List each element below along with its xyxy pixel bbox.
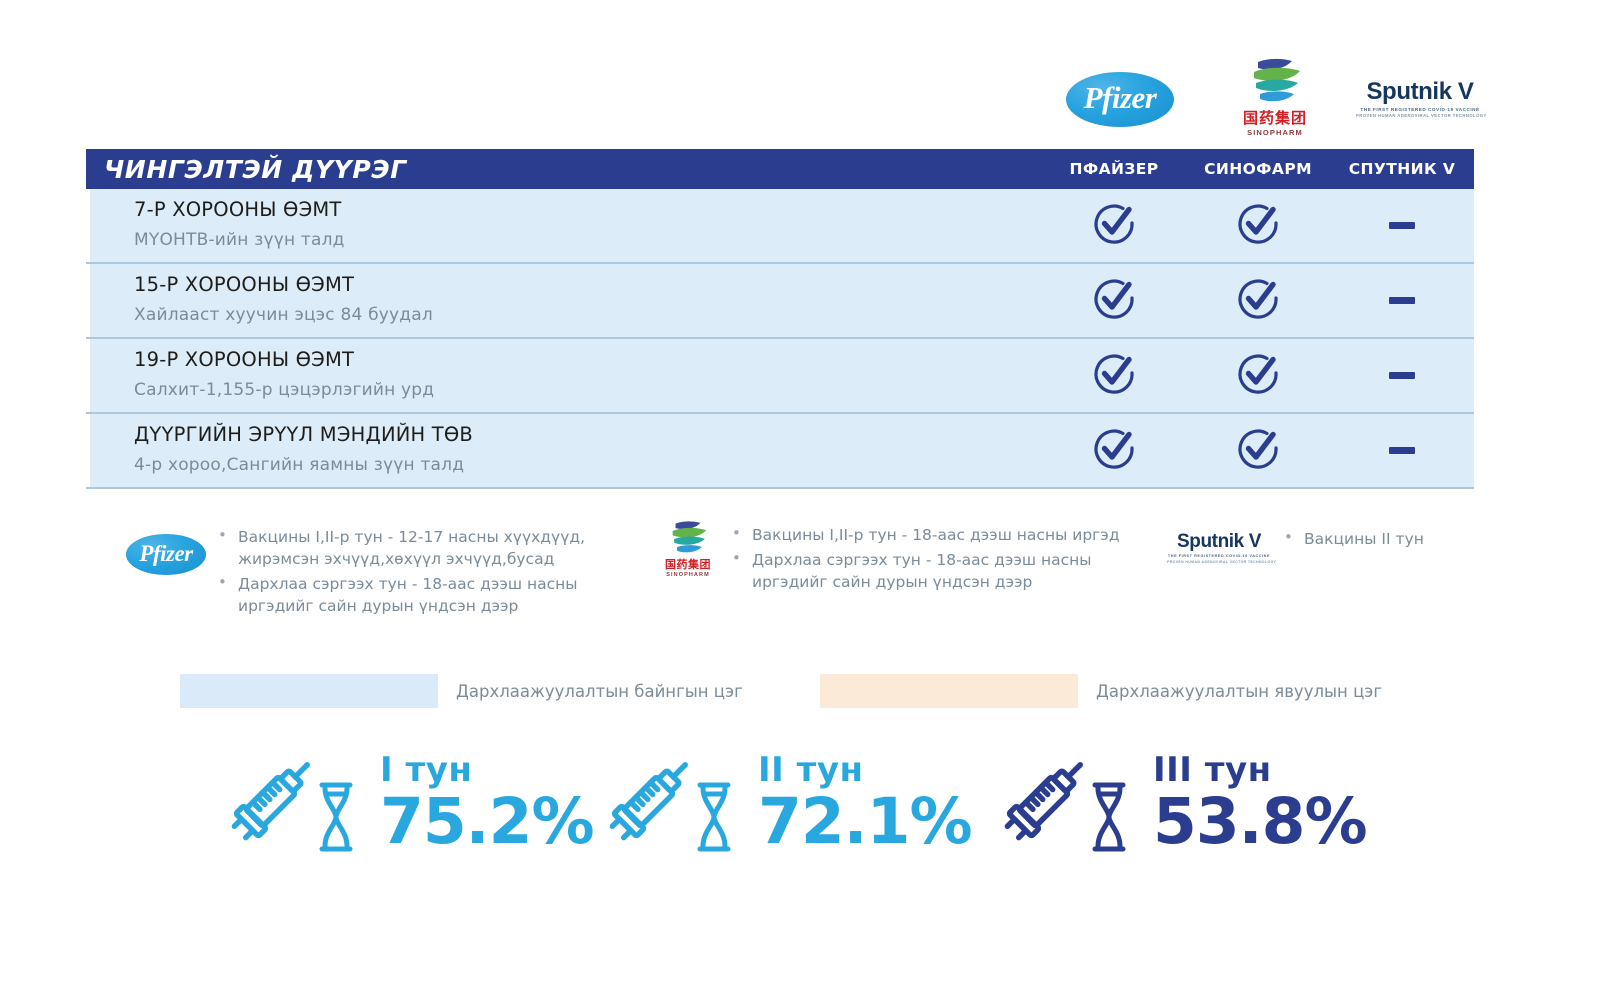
check-circle-icon [1090,199,1138,252]
check-circle-icon [1090,349,1138,402]
list-item: Дархлаа сэргээх тун - 18-аас дээш насны … [726,549,1120,593]
sputnik-tagline-primary: THE FIRST REGISTERED COVID-19 VACCINE [1167,554,1271,558]
sputnik-logo-icon: Sputnik V THE FIRST REGISTERED COVID-19 … [1356,80,1484,119]
hourglass-icon [1087,780,1131,859]
column-header-pfizer: ПФАЙЗЕР [1042,160,1186,178]
table-row[interactable]: ДҮҮРГИЙН ЭРҮҮЛ МЭНДИЙН ТӨВ 4-р хороо,Сан… [86,414,1474,489]
sinopharm-wave-icon [1244,57,1306,109]
sinopharm-english-name: SINOPHARM [656,572,720,578]
sputnik-logo-icon: Sputnik V THE FIRST REGISTERED COVID-19 … [1167,532,1271,564]
site-name: 19-Р ХОРООНЫ ӨЭМТ [134,348,1042,371]
stat-text-group: II тун 72.1% [758,753,972,855]
check-circle-icon [1090,424,1138,477]
note-line: Вакцины II тун [1304,528,1424,550]
table-row[interactable]: 7-Р ХОРООНЫ ӨЭМТ МҮОНТВ-ийн зүүн талд [86,189,1474,264]
sinopharm-english-name: SINOPHARM [1232,128,1318,137]
infographic-page: Pfizer 国药集团 SINOPHARM Sputnik V [0,0,1600,984]
note-line: иргэдийг сайн дурын үндсэн дээр [238,595,585,617]
note-line: Вакцины I,II-р тун - 18-аас дээш насны и… [752,524,1120,546]
row-left-margin [86,414,90,487]
site-address: 4-р хороо,Сангийн яамны зүүн талд [134,455,1042,475]
dash-icon [1389,447,1415,454]
row-left-margin [86,189,90,262]
pfizer-note-block: Pfizer Вакцины I,II-р тун - 12-17 насны … [120,522,590,620]
stat-dose-2: II тун 72.1% [600,740,972,868]
dose-label: III тун [1153,753,1367,787]
note-line: иргэдийг сайн дурын үндсэн дээр [752,571,1120,593]
sputnik-note-block: Sputnik V THE FIRST REGISTERED COVID-19 … [1160,524,1480,564]
note-line: жирэмсэн эхчүүд,хөхүүл эхчүүд,бусад [238,548,585,570]
sputnik-note-list: Вакцины II тун [1278,524,1424,553]
pfizer-logo-icon: Pfizer [1066,72,1174,127]
sputnik-tagline-secondary: PROVEN HUMAN ADENOVIRAL VECTOR TECHNOLOG… [1167,560,1271,564]
list-item: Вакцины II тун [1278,528,1424,550]
sinopharm-logo-icon: 国药集团 SINOPHARM [1232,57,1318,141]
vaccine-eligibility-legend: Pfizer Вакцины I,II-р тун - 12-17 насны … [120,512,1480,622]
legend-label: Дархлаажуулалтын явуулын цэг [1096,682,1382,701]
sinopharm-legend-logo-slot: 国药集团 SINOPHARM [650,520,726,582]
list-item: Дархлаа сэргээх тун - 18-аас дээш насны … [212,573,585,617]
table-body: 7-Р ХОРООНЫ ӨЭМТ МҮОНТВ-ийн зүүн талд [86,189,1474,489]
check-circle-icon [1234,424,1282,477]
cell-pfizer [1042,264,1186,337]
row-site-info: ДҮҮРГИЙН ЭРҮҮЛ МЭНДИЙН ТӨВ 4-р хороо,Сан… [86,414,1042,487]
legend-label: Дархлаажуулалтын байнгын цэг [456,682,743,701]
check-circle-icon [1234,274,1282,327]
column-header-sputnik: СПУТНИК V [1330,160,1474,178]
syringe-icon [600,746,704,855]
list-item: Вакцины I,II-р тун - 12-17 насны хүүхдүү… [212,526,585,570]
cell-sputnik [1330,264,1474,337]
dash-icon [1389,222,1415,229]
dash-icon [1389,372,1415,379]
cell-sputnik [1330,414,1474,487]
site-type-legend: Дархлаажуулалтын байнгын цэг Дархлаажуул… [180,674,1380,718]
cell-sinopharm [1186,339,1330,412]
pfizer-wordmark: Pfizer [1066,71,1174,126]
table-header-bar: ЧИНГЭЛТЭЙ ДҮҮРЭГ ПФАЙЗЕР СИНОФАРМ СПУТНИ… [86,149,1474,189]
legend-permanent-site: Дархлаажуулалтын байнгын цэг [180,674,743,708]
site-name: 7-Р ХОРООНЫ ӨЭМТ [134,198,1042,221]
note-line: Дархлаа сэргээх тун - 18-аас дээш насны [752,549,1120,571]
legend-swatch-peach [820,674,1078,708]
check-circle-icon [1234,349,1282,402]
sputnik-tagline-primary: THE FIRST REGISTERED COVID-19 VACCINE [1356,107,1484,112]
dose-label: I тун [380,753,594,787]
cell-pfizer [1042,414,1186,487]
table-row[interactable]: 15-Р ХОРООНЫ ӨЭМТ Хайлааст хуучин эцэс 8… [86,264,1474,339]
dose-percentage: 75.2% [380,789,594,855]
sputnik-legend-logo-slot: Sputnik V THE FIRST REGISTERED COVID-19 … [1160,524,1278,564]
cell-sinopharm [1186,414,1330,487]
sputnik-logo-slot: Sputnik V THE FIRST REGISTERED COVID-19 … [1350,52,1490,146]
pfizer-legend-logo-slot: Pfizer [120,522,212,575]
syringe-icon [995,746,1099,855]
table-row[interactable]: 19-Р ХОРООНЫ ӨЭМТ Салхит-1,155-р цэцэрлэ… [86,339,1474,414]
legend-mobile-site: Дархлаажуулалтын явуулын цэг [820,674,1382,708]
site-name: 15-Р ХОРООНЫ ӨЭМТ [134,273,1042,296]
pfizer-note-list: Вакцины I,II-р тун - 12-17 насны хүүхдүү… [212,522,585,620]
sinopharm-chinese-name: 国药集团 [656,559,720,571]
hourglass-icon [692,780,736,859]
pfizer-wordmark: Pfizer [126,533,206,574]
dose-percentage: 72.1% [758,789,972,855]
site-name: ДҮҮРГИЙН ЭРҮҮЛ МЭНДИЙН ТӨВ [134,423,1042,446]
sinopharm-note-block: 国药集团 SINOPHARM Вакцины I,II-р тун - 18-а… [650,520,1150,596]
note-line: Вакцины I,II-р тун - 12-17 насны хүүхдүү… [238,526,585,548]
cell-sinopharm [1186,264,1330,337]
cell-pfizer [1042,189,1186,262]
dose-coverage-stats: I тун 75.2% [0,740,1600,880]
sinopharm-wave-icon [665,520,711,558]
dose-label: II тун [758,753,972,787]
row-site-info: 7-Р ХОРООНЫ ӨЭМТ МҮОНТВ-ийн зүүн талд [86,189,1042,262]
stat-icon-group [222,740,372,868]
district-title: ЧИНГЭЛТЭЙ ДҮҮРЭГ [86,155,1042,184]
sinopharm-note-list: Вакцины I,II-р тун - 18-аас дээш насны и… [726,520,1120,596]
legend-swatch-blue [180,674,438,708]
cell-sputnik [1330,189,1474,262]
check-circle-icon [1234,199,1282,252]
stat-dose-1: I тун 75.2% [222,740,594,868]
dose-percentage: 53.8% [1153,789,1367,855]
vaccination-sites-table: ЧИНГЭЛТЭЙ ДҮҮРЭГ ПФАЙЗЕР СИНОФАРМ СПУТНИ… [86,149,1474,489]
hourglass-icon [314,780,358,859]
pfizer-logo-slot: Pfizer [1040,52,1200,146]
row-left-margin [86,339,90,412]
brand-logo-row: Pfizer 国药集团 SINOPHARM Sputnik V [1040,52,1480,146]
list-item: Вакцины I,II-р тун - 18-аас дээш насны и… [726,524,1120,546]
row-site-info: 15-Р ХОРООНЫ ӨЭМТ Хайлааст хуучин эцэс 8… [86,264,1042,337]
stat-icon-group [995,740,1145,868]
cell-sinopharm [1186,189,1330,262]
sinopharm-logo-slot: 国药集团 SINOPHARM [1200,52,1350,146]
stat-dose-3: III тун 53.8% [995,740,1367,868]
syringe-icon [222,746,326,855]
cell-sputnik [1330,339,1474,412]
stat-icon-group [600,740,750,868]
cell-pfizer [1042,339,1186,412]
sputnik-tagline-secondary: PROVEN HUMAN ADENOVIRAL VECTOR TECHNOLOG… [1356,113,1484,118]
stat-text-group: III тун 53.8% [1153,753,1367,855]
site-address: Салхит-1,155-р цэцэрлэгийн урд [134,380,1042,400]
column-header-sinopharm: СИНОФАРМ [1186,160,1330,178]
pfizer-logo-icon: Pfizer [126,534,206,575]
sinopharm-chinese-name: 国药集团 [1232,110,1318,127]
sinopharm-logo-icon: 国药集团 SINOPHARM [656,520,720,582]
site-address: Хайлааст хуучин эцэс 84 буудал [134,305,1042,325]
dash-icon [1389,297,1415,304]
row-site-info: 19-Р ХОРООНЫ ӨЭМТ Салхит-1,155-р цэцэрлэ… [86,339,1042,412]
note-line: Дархлаа сэргээх тун - 18-аас дээш насны [238,573,585,595]
row-left-margin [86,264,90,337]
site-address: МҮОНТВ-ийн зүүн талд [134,230,1042,250]
check-circle-icon [1090,274,1138,327]
sputnik-wordmark: Sputnik V [1356,80,1484,104]
stat-text-group: I тун 75.2% [380,753,594,855]
sputnik-wordmark: Sputnik V [1167,532,1271,551]
